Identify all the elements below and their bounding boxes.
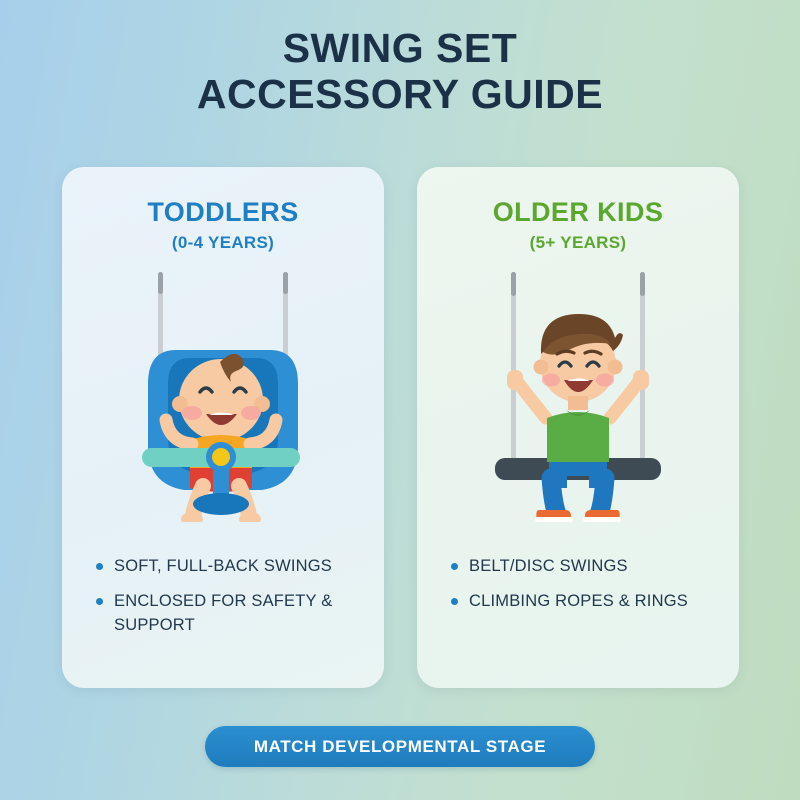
toddlers-bullet-list: SOFT, FULL-BACK SWINGS ENCLOSED FOR SAFE…	[96, 555, 366, 649]
card-toddlers-age-range: (0-4 YEARS)	[62, 233, 384, 253]
page-title: SWING SET ACCESSORY GUIDE	[0, 26, 800, 118]
list-item-label: CLIMBING ROPES & RINGS	[469, 590, 688, 614]
title-line-1: SWING SET	[0, 26, 800, 72]
card-toddlers: TODDLERS (0-4 YEARS)	[62, 167, 384, 688]
title-line-2: ACCESSORY GUIDE	[0, 72, 800, 118]
bullet-dot-icon	[451, 598, 458, 605]
bullet-dot-icon	[96, 563, 103, 570]
banner-label: MATCH DEVELOPMENTAL STAGE	[254, 737, 546, 757]
list-item-label: ENCLOSED FOR SAFETY & SUPPORT	[114, 590, 366, 638]
card-older-kids: OLDER KIDS (5+ YEARS)	[417, 167, 739, 688]
list-item-label: BELT/DISC SWINGS	[469, 555, 628, 579]
card-older-kids-age-range: (5+ YEARS)	[417, 233, 739, 253]
match-developmental-stage-banner: MATCH DEVELOPMENTAL STAGE	[205, 726, 595, 767]
card-older-kids-header: OLDER KIDS (5+ YEARS)	[417, 197, 739, 253]
card-toddlers-header: TODDLERS (0-4 YEARS)	[62, 197, 384, 253]
bullet-dot-icon	[451, 563, 458, 570]
list-item-label: SOFT, FULL-BACK SWINGS	[114, 555, 332, 579]
list-item: SOFT, FULL-BACK SWINGS	[96, 555, 366, 579]
bullet-dot-icon	[96, 598, 103, 605]
baby-in-bucket-swing-illustration	[62, 272, 384, 552]
list-item: CLIMBING ROPES & RINGS	[451, 590, 721, 614]
boy-on-belt-swing-illustration	[417, 272, 739, 552]
list-item: ENCLOSED FOR SAFETY & SUPPORT	[96, 590, 366, 638]
older-kids-bullet-list: BELT/DISC SWINGS CLIMBING ROPES & RINGS	[451, 555, 721, 625]
list-item: BELT/DISC SWINGS	[451, 555, 721, 579]
infographic-poster: SWING SET ACCESSORY GUIDE TODDLERS (0-4 …	[0, 0, 800, 800]
card-older-kids-title: OLDER KIDS	[417, 197, 739, 228]
card-toddlers-title: TODDLERS	[62, 197, 384, 228]
